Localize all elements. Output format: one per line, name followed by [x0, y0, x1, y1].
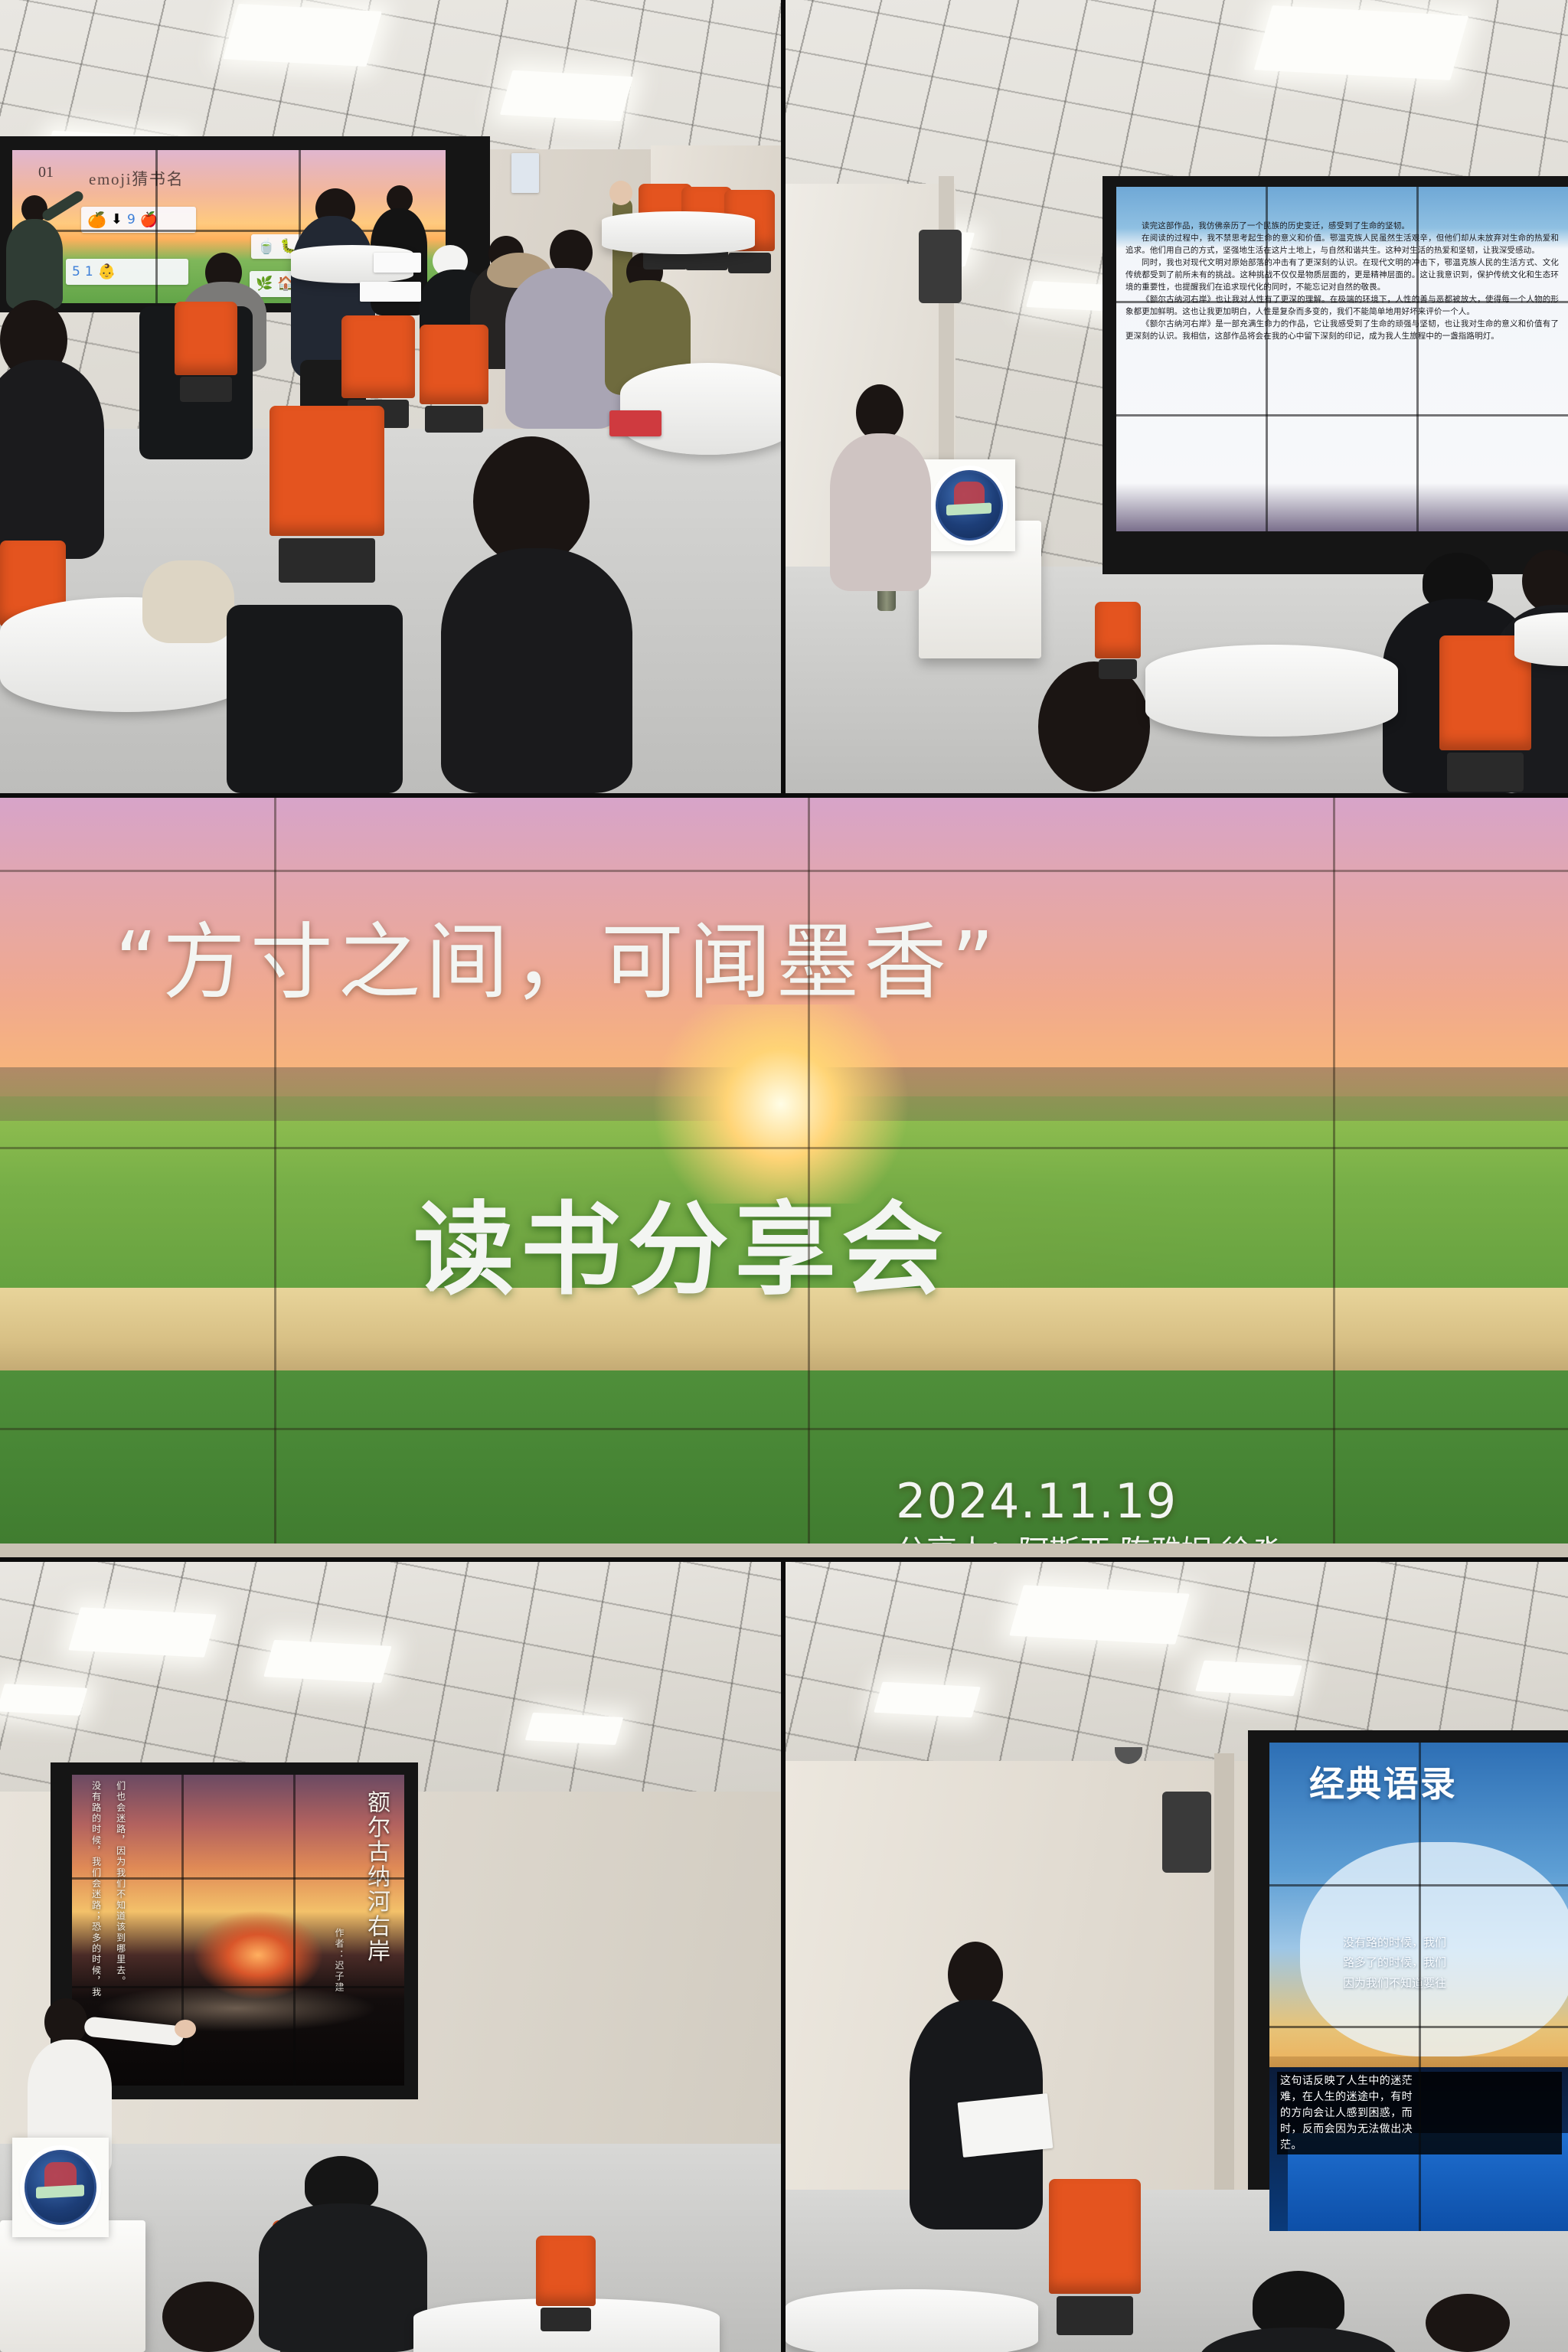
open-book [958, 2093, 1053, 2158]
section-title: emoji猜书名 [89, 167, 184, 190]
video-wall-analysis-strip: 这句话反映了人生中的迷茫 难，在人生的迷途中，有时 的方向会让人感到困惑，而 时… [1269, 2067, 1568, 2231]
black-bag [227, 605, 403, 793]
wall-base-strip [0, 1543, 1568, 1557]
section-number: 01 [38, 164, 54, 181]
analysis-text-block: 这句话反映了人生中的迷茫 难，在人生的迷途中，有时 的方向会让人感到困惑，而 时… [1277, 2072, 1562, 2154]
round-table [786, 2289, 1038, 2352]
podium [0, 2220, 145, 2352]
collage-seam-vertical-top [781, 0, 786, 798]
photo-collage: 01 emoji猜书名 🍊⬇9🍎 🍵🐛 51👶 🌿🏠⬤ [0, 0, 1568, 2352]
ceiling-lamp [1254, 5, 1468, 80]
red-notebook [609, 410, 661, 436]
analysis-line: 的方向会让人感到困惑，而 [1280, 2105, 1559, 2122]
panel-top-right: 读完这部作品，我仿佛亲历了一个民族的历史变迁，感受到了生命的坚韧。 在阅读的过程… [786, 0, 1568, 793]
analysis-line: 时，反而会因为无法做出决 [1280, 2122, 1559, 2138]
presenter-body [6, 219, 63, 309]
chair [536, 2236, 596, 2306]
author-credit: 作者：迟子建 [332, 1928, 346, 2020]
grey-shirt-person-body [505, 268, 620, 429]
quote-line: 因为我们不知道要往 [1343, 1973, 1568, 1993]
round-table [1145, 645, 1398, 737]
ceiling-lamp [1009, 1585, 1190, 1645]
emoji-card: 51👶 [66, 259, 188, 285]
ceiling-lamp [263, 1640, 391, 1683]
audience-head [1038, 661, 1150, 792]
chair [175, 302, 237, 375]
chair [1049, 2179, 1141, 2294]
wall-speaker [1162, 1792, 1211, 1873]
reflection-paragraph: 《额尔古纳河右岸》也让我对人性有了更深的理解。在极端的环境下，人性的善与恶都被放… [1125, 294, 1559, 318]
ceiling-lamp [500, 70, 633, 121]
wall-notice [511, 153, 539, 193]
ceiling-lamp [1195, 1661, 1302, 1697]
round-table [1514, 612, 1568, 666]
panel-center-poster: “方寸之间，可闻墨香” 读书分享会 2024.11.19 分享人：阿斯亚 陈雅妮… [0, 798, 1568, 1557]
reflection-paragraph: 《额尔古纳河右岸》是一部充满生命力的作品，它让我感受到了生命的顽强与坚韧，也让我… [1125, 318, 1559, 343]
round-table [620, 363, 781, 455]
audience-body [259, 2203, 427, 2352]
ceiling-lamp [68, 1607, 216, 1657]
reflection-text-body: 读完这部作品，我仿佛亲历了一个民族的历史变迁，感受到了生命的坚韧。 在阅读的过程… [1125, 220, 1559, 484]
reflection-paragraph: 同时，我也对现代文明对原始部落的冲击有了更深刻的认识。在现代文明的冲击下，鄂温克… [1125, 257, 1559, 294]
ceiling-lamp [525, 1713, 624, 1745]
hand [609, 181, 632, 205]
chair [269, 406, 384, 536]
presenter-hand [175, 2020, 196, 2038]
video-wall-reflection-text: 读完这部作品，我仿佛亲历了一个民族的历史变迁，感受到了生命的坚韧。 在阅读的过程… [1116, 187, 1568, 531]
ceiling-lamp [874, 1682, 981, 1718]
book-title-vertical: 额尔古纳河右岸 [358, 1790, 394, 2043]
school-emblem [24, 2150, 96, 2225]
poster-date: 2024.11.19 [896, 1473, 1177, 1529]
foreground-girl-body [441, 548, 632, 793]
round-table [602, 211, 755, 254]
panel-top-left: 01 emoji猜书名 🍊⬇9🍎 🍵🐛 51👶 🌿🏠⬤ [0, 0, 781, 793]
speaker-body [830, 433, 931, 591]
presenter-head [44, 1998, 87, 2046]
emoji-card: 🍊⬇9🍎 [81, 207, 196, 233]
chair [420, 325, 488, 404]
school-emblem [936, 470, 1003, 541]
analysis-line: 茫。 [1280, 2138, 1559, 2154]
poster-quote-title: “方寸之间，可闻墨香” [115, 896, 999, 1015]
collage-seam-horizontal-1 [0, 793, 1568, 798]
paper-sheet [374, 253, 421, 273]
quotes-heading: 经典语录 [1309, 1756, 1457, 1807]
ceiling-lamp [0, 1684, 87, 1716]
paper-sheet [360, 282, 421, 302]
fur-hat-on-table [142, 560, 234, 643]
poster-main-title: 读书分享会 [413, 1168, 949, 1315]
panel-bottom-right: 经典语录 没有路的时候，我们 路多了的时候，我们 因为我们不知道要往 这句话反映… [786, 1562, 1568, 2352]
wall-speaker [919, 230, 962, 303]
analysis-line: 难，在人生的迷途中，有时 [1280, 2089, 1559, 2105]
collage-seam-vertical-bottom [781, 1562, 786, 2352]
quote-line: 路多了的时候，我们 [1343, 1952, 1568, 1972]
audience-head-2 [1426, 2294, 1510, 2352]
panel-bottom-left: 额尔古纳河右岸 作者：迟子建 们也会迷路，因为我们不知道该到哪里去。 没有路的时… [0, 1562, 781, 2352]
ceiling-lamp [223, 4, 382, 67]
foreground-grass [0, 1370, 1568, 1557]
quote-line: 没有路的时候，我们 [1343, 1932, 1568, 1952]
audience-head-2 [162, 2282, 254, 2352]
emblem-book [946, 503, 991, 516]
reflection-paragraph: 在阅读的过程中，我不禁思考起生命的意义和价值。鄂温克族人民虽然生活艰辛，但他们却… [1125, 233, 1559, 257]
quote-lines-block: 没有路的时候，我们 路多了的时候，我们 因为我们不知道要往 [1343, 1932, 1568, 1993]
reader-head [948, 1942, 1003, 2007]
foreground-person-body [0, 360, 104, 559]
analysis-line: 这句话反映了人生中的迷茫 [1280, 2073, 1559, 2089]
foreground-girl-head [473, 436, 590, 567]
chair [1095, 602, 1141, 658]
column [1214, 1753, 1234, 2213]
reflection-paragraph: 读完这部作品，我仿佛亲历了一个民族的历史变迁，感受到了生命的坚韧。 [1125, 220, 1559, 233]
chair [341, 315, 415, 398]
emblem-book [36, 2184, 84, 2198]
speaker-head [856, 384, 903, 441]
